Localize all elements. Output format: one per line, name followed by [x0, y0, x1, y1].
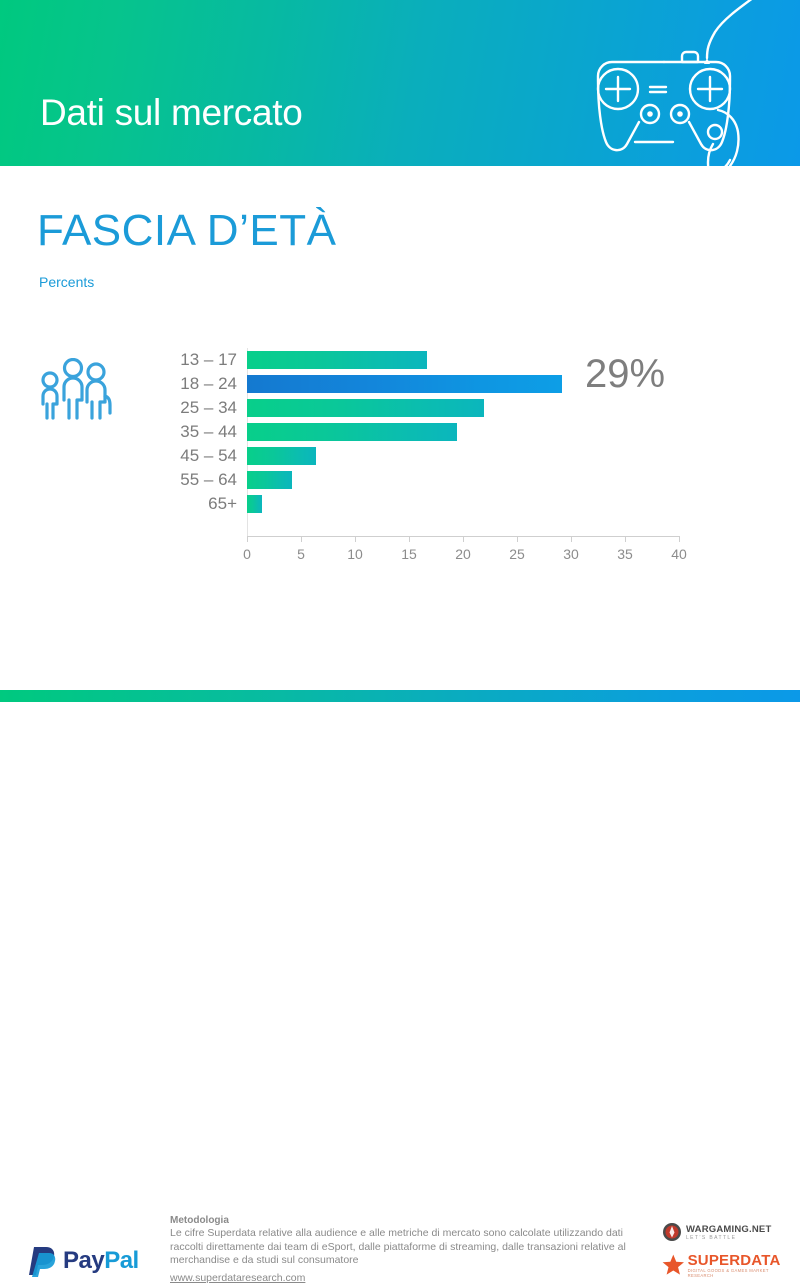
category-label: 65+: [155, 492, 237, 516]
x-axis-tick: [463, 536, 464, 542]
superdata-logo: SUPERDATA DIGITAL GOODS & GAMES MARKET R…: [662, 1252, 782, 1278]
x-axis-tick: [571, 536, 572, 542]
methodology-block: Metodologia Le cifre Superdata relative …: [170, 1215, 650, 1286]
bar[interactable]: [247, 399, 484, 417]
three-people-icon: [36, 358, 112, 420]
x-axis-tick-label: 5: [297, 546, 305, 562]
x-axis-tick: [409, 536, 410, 542]
bar-row: [247, 420, 679, 444]
superdata-text: SUPERDATA DIGITAL GOODS & GAMES MARKET R…: [688, 1253, 782, 1278]
x-axis-tick-label: 30: [563, 546, 579, 562]
x-axis-tick-label: 0: [243, 546, 251, 562]
bar-row: [247, 492, 679, 516]
highlight-callout: 29%: [585, 352, 665, 397]
category-label: 18 – 24: [155, 372, 237, 396]
x-axis-tick: [355, 536, 356, 542]
category-label: 45 – 54: [155, 444, 237, 468]
x-axis-tick-label: 35: [617, 546, 633, 562]
methodology-title: Metodologia: [170, 1215, 650, 1226]
x-axis-tick: [679, 536, 680, 542]
x-axis-tick-label: 10: [347, 546, 363, 562]
wargaming-name: WARGAMING.NET: [686, 1224, 771, 1235]
bar[interactable]: [247, 447, 316, 465]
header-title: Dati sul mercato eSport in Italia: [40, 42, 303, 166]
x-axis-tick-label: 40: [671, 546, 687, 562]
chart-container: 13 – 17 18 – 24 25 – 34 35 – 44 45 – 54 …: [0, 330, 800, 570]
category-label: 25 – 34: [155, 396, 237, 420]
x-axis-tick: [625, 536, 626, 542]
bar[interactable]: [247, 375, 562, 393]
wargaming-text: WARGAMING.NET LET’S BATTLE: [686, 1224, 771, 1241]
superdata-star-icon: [662, 1252, 685, 1278]
page-subtitle: Percents: [39, 274, 94, 290]
paypal-logo-icon: [28, 1245, 58, 1277]
category-label: 13 – 17: [155, 348, 237, 372]
x-axis-tick-label: 25: [509, 546, 525, 562]
wargaming-logo: WARGAMING.NET LET’S BATTLE: [662, 1222, 782, 1242]
paypal-pay-text: Pay: [63, 1247, 104, 1274]
bar-row: [247, 444, 679, 468]
superdata-name: SUPERDATA: [688, 1253, 782, 1268]
page-title: FASCIA D’ETÀ: [37, 206, 336, 256]
x-axis-tick: [517, 536, 518, 542]
bar[interactable]: [247, 495, 262, 513]
bar[interactable]: [247, 471, 292, 489]
x-axis-tick-label: 15: [401, 546, 417, 562]
chart-category-labels: 13 – 17 18 – 24 25 – 34 35 – 44 45 – 54 …: [155, 348, 237, 516]
header-title-line1: Dati sul mercato: [40, 92, 303, 133]
bottom-gradient-bar: [0, 690, 800, 702]
partner-logos: WARGAMING.NET LET’S BATTLE SUPERDATA DIG…: [662, 1222, 782, 1288]
wargaming-logo-icon: [662, 1222, 682, 1242]
x-axis-tick: [247, 536, 248, 542]
methodology-link[interactable]: www.superdataresearch.com: [170, 1272, 305, 1284]
category-label: 35 – 44: [155, 420, 237, 444]
paypal-logo: PayPal: [28, 1245, 139, 1277]
superdata-tagline: DIGITAL GOODS & GAMES MARKET RESEARCH: [688, 1268, 782, 1278]
methodology-body: Le cifre Superdata relative alla audienc…: [170, 1227, 650, 1268]
page-footer: PayPal Metodologia Le cifre Superdata re…: [0, 600, 800, 702]
x-axis-tick: [301, 536, 302, 542]
bar[interactable]: [247, 423, 457, 441]
bar-row: [247, 396, 679, 420]
gamepad-controller-icon: [510, 0, 770, 166]
bar[interactable]: [247, 351, 427, 369]
page-header: Dati sul mercato eSport in Italia: [0, 0, 800, 166]
category-label: 55 – 64: [155, 468, 237, 492]
paypal-pal-text: Pal: [104, 1247, 139, 1274]
paypal-wordmark: PayPal: [63, 1247, 139, 1275]
wargaming-tagline: LET’S BATTLE: [686, 1235, 771, 1241]
bar-row: [247, 468, 679, 492]
x-axis-tick-label: 20: [455, 546, 471, 562]
